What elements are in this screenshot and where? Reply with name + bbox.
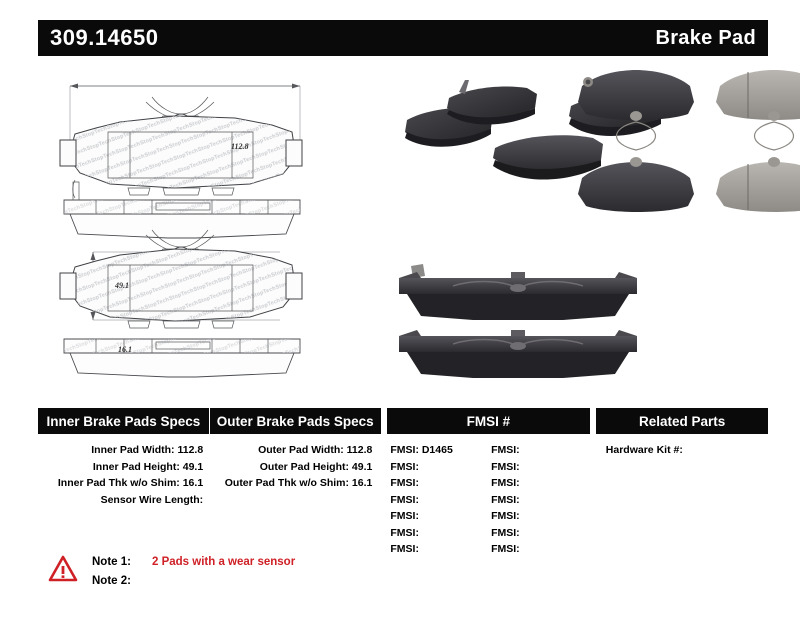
spec-line: Inner Pad Height: 49.1 [38, 459, 203, 476]
dimension-thickness-label: 16.1 [118, 345, 132, 354]
fmsi-line: FMSI: [390, 508, 491, 525]
table-body-row: Inner Pad Width: 112.8 Inner Pad Height:… [38, 442, 768, 558]
header-fmsi: FMSI # [387, 408, 591, 434]
fmsi-line: FMSI: [491, 442, 592, 459]
fmsi-line: FMSI: [390, 459, 491, 476]
title-bar: 309.14650 Brake Pad [38, 20, 768, 56]
fmsi-line: FMSI: [491, 459, 592, 476]
header-related-parts: Related Parts [596, 408, 768, 434]
header-inner-specs: Inner Brake Pads Specs [38, 408, 209, 434]
pad-drawing-bottom [60, 230, 310, 335]
table-header-row: Inner Brake Pads Specs Outer Brake Pads … [38, 408, 768, 434]
edge-view-pads-photo [399, 264, 637, 378]
fmsi-line: FMSI: [390, 525, 491, 542]
fmsi-line: FMSI: [390, 475, 491, 492]
part-number: 309.14650 [50, 25, 159, 51]
note-2-label: Note 2: [92, 572, 146, 591]
related-part-line: Hardware Kit #: [606, 442, 768, 459]
notes-section: Note 1: 2 Pads with a wear sensor Note 2… [48, 552, 295, 591]
fmsi-subcolumn-left: FMSI: D1465 FMSI: FMSI: FMSI: FMSI: FMSI… [384, 442, 491, 558]
fmsi-column: FMSI: D1465 FMSI: FMSI: FMSI: FMSI: FMSI… [384, 442, 591, 558]
spec-line: Outer Pad Height: 49.1 [208, 459, 372, 476]
note-1-label: Note 1: [92, 553, 146, 572]
dimension-width-label: 112.8 [231, 142, 249, 151]
note-lines: Note 1: 2 Pads with a wear sensor Note 2… [92, 552, 295, 591]
fmsi-line: FMSI: [491, 508, 592, 525]
fmsi-line: FMSI: [491, 475, 592, 492]
spec-line: Inner Pad Thk w/o Shim: 16.1 [38, 475, 203, 492]
fmsi-line: FMSI: D1465 [390, 442, 491, 459]
spec-line: Outer Pad Thk w/o Shim: 16.1 [208, 475, 372, 492]
pad-edge-profile-top [64, 180, 300, 238]
note-1-row: Note 1: 2 Pads with a wear sensor [92, 553, 295, 572]
related-parts-column: Hardware Kit #: [598, 442, 768, 558]
note-2-row: Note 2: [92, 572, 295, 591]
spec-line: Sensor Wire Length: [38, 492, 203, 509]
drawings-area: 112.8 49.1 16.1 StopTech [0, 62, 800, 392]
spec-line: Inner Pad Width: 112.8 [38, 442, 203, 459]
dimension-height-label: 49.1 [115, 281, 129, 290]
product-type: Brake Pad [655, 27, 756, 50]
fmsi-line: FMSI: [390, 492, 491, 509]
outer-specs-column: Outer Pad Width: 112.8 Outer Pad Height:… [208, 442, 378, 558]
inner-specs-column: Inner Pad Width: 112.8 Inner Pad Height:… [38, 442, 207, 558]
warning-triangle-icon [48, 554, 78, 584]
fmsi-line: FMSI: [491, 492, 592, 509]
note-1-value: 2 Pads with a wear sensor [152, 553, 295, 572]
pad-edge-profile-bottom [64, 339, 300, 377]
fmsi-line: FMSI: [491, 525, 592, 542]
fmsi-line: FMSI: [390, 541, 491, 558]
line-drawing-group: StopTech [0, 62, 380, 392]
header-outer-specs: Outer Brake Pads Specs [210, 408, 381, 434]
specs-table: Inner Brake Pads Specs Outer Brake Pads … [38, 408, 768, 558]
fmsi-subcolumn-right: FMSI: FMSI: FMSI: FMSI: FMSI: FMSI: FMSI… [491, 442, 592, 558]
spec-line: Outer Pad Width: 112.8 [208, 442, 372, 459]
top-view-pads-photo [578, 70, 800, 212]
product-photo-group [385, 62, 800, 392]
pad-drawing-top [60, 97, 310, 202]
fmsi-line: FMSI: [491, 541, 592, 558]
